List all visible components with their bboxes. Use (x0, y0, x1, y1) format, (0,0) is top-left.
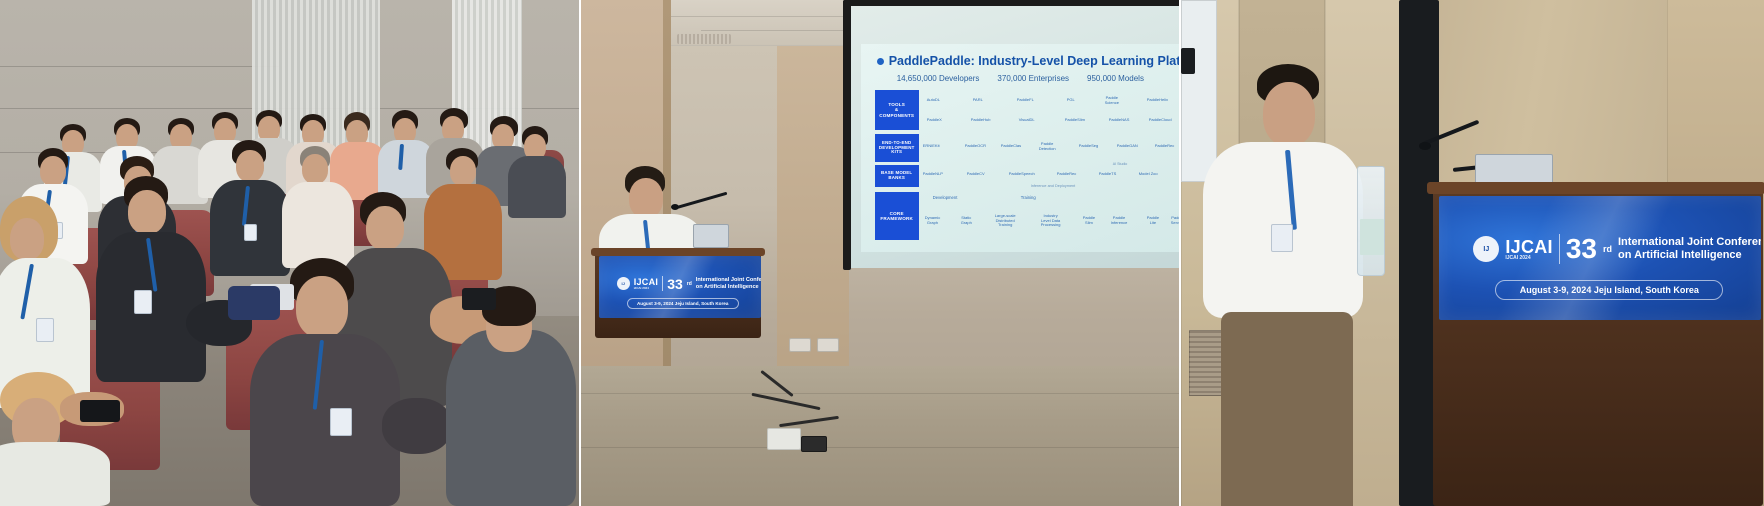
tool-item: AutoDL (927, 98, 940, 103)
podium-banner: IJ IJCAI IJCAI 2024 33 rd International … (599, 256, 761, 318)
bottle-label (1360, 219, 1384, 255)
banner-org-sub: IJCAI 2024 (1505, 256, 1553, 261)
slide-footnote-right: AI Studio (1113, 162, 1128, 166)
tool-item: PaddleLite (1147, 216, 1159, 225)
banner-ordinal-number: 33 (1566, 235, 1597, 263)
tool-item: PaddleClas (1001, 144, 1021, 149)
core-section-label: Training (1021, 196, 1036, 201)
tool-item: PaddleServing (1171, 216, 1180, 225)
banner-main-row: IJ IJCAI IJCAI 2024 33 rd International … (1473, 234, 1761, 264)
category-block-tools: TOOLS&COMPONENTS (875, 90, 919, 130)
tool-item: PaddleOCR (965, 144, 986, 149)
floor (581, 366, 1180, 506)
banner-ordinal-suffix: rd (1603, 244, 1612, 254)
tool-item: PaddleGAN (1117, 144, 1138, 149)
tool-item: StaticGraph (961, 216, 972, 225)
banner-org-name: IJCAI (1505, 238, 1553, 256)
floor-seam (581, 447, 1180, 448)
ijcai-logo-icon: IJ (1473, 236, 1499, 262)
banner-divider (1559, 234, 1560, 264)
tool-item: PaddleNAS (1109, 118, 1130, 123)
tool-item: PaddleFL (1017, 98, 1034, 103)
tool-item: PARL (973, 98, 983, 103)
wall-column (777, 46, 849, 376)
tool-item: PaddleCloud (1149, 118, 1172, 123)
podium-banner: IJ IJCAI IJCAI 2024 33 rd International … (1439, 196, 1761, 320)
water-bottle (1357, 166, 1385, 276)
ijcai-logo-icon: IJ (617, 277, 630, 290)
slide-footnote-center: Inference and Deployment (1031, 184, 1076, 188)
tool-item: PaddleScience (1105, 96, 1119, 105)
tool-item: DynamicGraph (925, 216, 941, 225)
category-label: COREFRAMEWORK (880, 211, 913, 221)
tool-item: PaddleDetection (1039, 142, 1056, 151)
category-label: BASE MODELBANKS (881, 171, 912, 181)
tool-item: PaddleCV (967, 172, 985, 177)
projector-screen-edge (1181, 0, 1217, 182)
middle-panel-speaker-photo: PaddlePaddle: Industry-Level Deep Learni… (581, 0, 1180, 506)
floor-seam (581, 393, 1180, 394)
podium-top (591, 248, 765, 256)
tool-item: Large-scaleDistributedTraining (995, 214, 1016, 228)
smartphone (462, 288, 496, 310)
tool-item: PaddleTS (1099, 172, 1117, 177)
photo-collage: PaddlePaddle: Industry-Level Deep Learni… (0, 0, 1764, 506)
presentation-slide: PaddlePaddle: Industry-Level Deep Learni… (861, 44, 1180, 252)
projector-screen-edge (843, 0, 851, 270)
category-label: TOOLS&COMPONENTS (879, 102, 914, 117)
floor-equipment-box (767, 428, 801, 450)
tool-item: PaddleSpeech (1009, 172, 1035, 177)
smartphone (80, 400, 120, 422)
banner-ordinal-number: 33 (667, 277, 683, 291)
wall-speaker (1181, 48, 1195, 74)
backpack (228, 286, 280, 320)
tool-item: VisualDL (1019, 118, 1035, 123)
left-panel-audience-photo (0, 0, 579, 506)
podium-top (1427, 182, 1764, 194)
banner-date-line: August 3-9, 2024 Jeju Island, South Kore… (627, 298, 739, 309)
laptop (693, 224, 729, 248)
category-block-kits: END-TO-ENDDEVELOPMENTKITS (875, 134, 919, 162)
tool-item: PaddleX (927, 118, 942, 123)
category-label: END-TO-ENDDEVELOPMENTKITS (879, 141, 915, 156)
category-block-banks: BASE MODELBANKS (875, 165, 919, 187)
tool-item: PaddleRec (1057, 172, 1077, 177)
tool-item: PaddleInference (1111, 216, 1128, 225)
tool-item: Model Zoo (1139, 172, 1158, 177)
tool-item: PaddleSeg (1079, 144, 1099, 149)
tool-item: PaddleHelix (1147, 98, 1168, 103)
banner-divider (662, 276, 663, 291)
tool-item: ERNIEKit (923, 144, 940, 149)
right-panel-speaker-photo: IJ IJCAI IJCAI 2024 33 rd International … (1181, 0, 1764, 506)
banner-org-sub: IJCAI 2024 (634, 287, 659, 290)
tool-item: PGL (1067, 98, 1075, 103)
tool-item: PaddleSlim (1083, 216, 1095, 225)
banner-main-row: IJ IJCAI IJCAI 2024 33 rd International … (617, 276, 761, 291)
core-section-label: Development (933, 196, 958, 201)
wall-seam (0, 66, 279, 67)
tool-item: PaddleRec (1155, 144, 1175, 149)
tool-item: IndustryLevel DataProcessing (1041, 214, 1061, 228)
banner-date-line: August 3-9, 2024 Jeju Island, South Kore… (1495, 280, 1723, 300)
banner-conference-line2: on Artificial Intelligence (1618, 249, 1761, 262)
banner-conference-line1: International Joint Conference (1618, 236, 1761, 249)
category-block-core: COREFRAMEWORK (875, 192, 919, 240)
banner-ordinal-suffix: rd (687, 281, 692, 287)
slide-architecture-diagram: TOOLS&COMPONENTS END-TO-ENDDEVELOPMENTKI… (861, 44, 1180, 252)
banner-conference-line2: on Artificial Intelligence (696, 284, 761, 290)
ceiling-vent (677, 34, 731, 44)
microphone-head (671, 204, 679, 210)
tool-item: PaddleSlim (1065, 118, 1085, 123)
wall-outlet (817, 338, 839, 352)
wall-outlet (789, 338, 811, 352)
tool-item: PaddleNLP (923, 172, 943, 177)
tool-item: PaddleHub (971, 118, 991, 123)
floor-equipment-box (801, 436, 827, 452)
